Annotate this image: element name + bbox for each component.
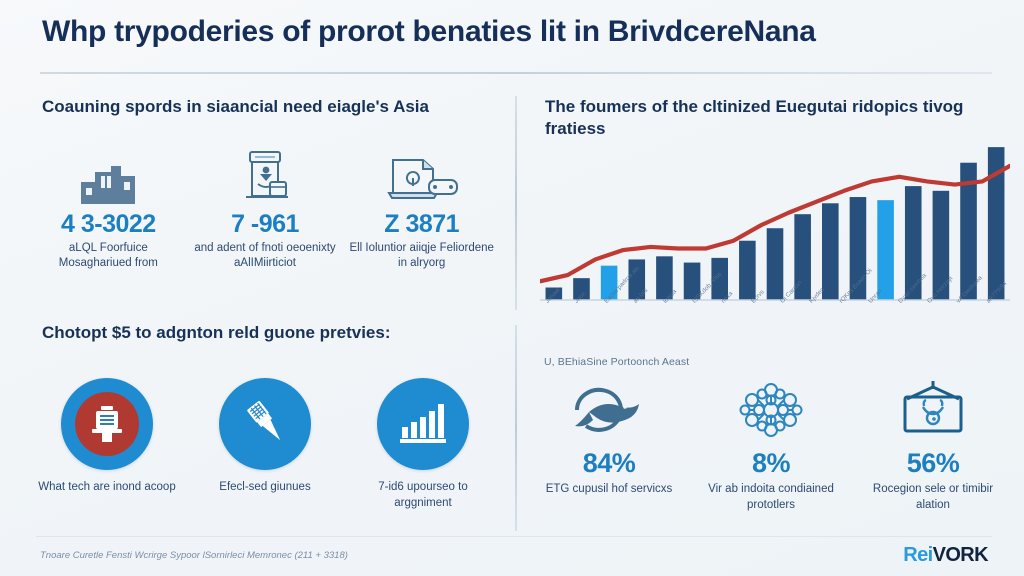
right-top-heading: The foumers of the cltinized Euegutai ri… [545, 96, 975, 140]
percent-caption: Rocegion sele or timibir alation [852, 482, 1014, 513]
stat-caption: and adent of fnoti oeoenixty aAlIMiirtic… [191, 241, 340, 271]
percent-value: 8% [690, 448, 852, 479]
whale-icon [528, 374, 690, 446]
logo-part-2: VORK [933, 544, 988, 566]
infographic-canvas: Whp trypoderies of prorot benaties lit i… [0, 0, 1024, 576]
stat-value: 7 -961 [191, 210, 340, 239]
stat-item: Z 3871 Ell Ioluntior aiiqje Feliordene i… [343, 148, 500, 271]
factory-building-icon [34, 148, 183, 206]
vending-kiosk-icon [191, 148, 340, 206]
stat-caption: Ell Ioluntior aiiqje Feliordene in alryo… [347, 241, 496, 271]
circle-item: What tech are inond acoop [28, 378, 186, 511]
circle-caption: 7-id6 upourseo to arggniment [344, 480, 502, 511]
stat-value: 4 3-3022 [34, 210, 183, 239]
circle-item: 7-id6 upourseo to arggniment [344, 378, 502, 511]
stat-item: 7 -961 and adent of fnoti oeoenixty aAlI… [187, 148, 344, 271]
title-divider [40, 72, 992, 74]
chart-bar [767, 228, 784, 300]
circle-row: What tech are inond acoop [28, 378, 502, 511]
circle-badge [61, 378, 153, 470]
stat-value: Z 3871 [347, 210, 496, 239]
circle-badge [377, 378, 469, 470]
chart-bar [739, 241, 756, 300]
stat-caption: aLQL Foorfuice Mosaghariued from [34, 241, 183, 271]
percent-caption: ETG cupusil hof servicxs [528, 482, 690, 498]
column-divider-bottom [515, 325, 517, 531]
chart-x-axis-labels: JooaalJuoxEactia parlroa aloan lalsloejs… [540, 300, 1010, 346]
left-top-heading: Coauning spords in siaancial need eiagle… [42, 96, 482, 118]
percent-value: 84% [528, 448, 690, 479]
bar-growth-icon [398, 401, 448, 447]
circle-caption: Efecl-sed giunues [186, 480, 344, 496]
chart-canvas [540, 140, 1010, 308]
paint-brush-icon [239, 398, 291, 450]
combo-chart [540, 140, 1010, 308]
percent-row: 84% ETG cupusil hof servicxs [528, 374, 1014, 513]
column-divider-top [515, 96, 517, 310]
circle-item: Efecl-sed giunues [186, 378, 344, 511]
percent-item: 8% Vir ab indoita condiained prototlers [690, 374, 852, 513]
banner-animal-icon [852, 374, 1014, 446]
brand-logo: ReiVORK [903, 545, 988, 565]
circle-inner [75, 392, 139, 456]
percent-item: 84% ETG cupusil hof servicxs [528, 374, 690, 513]
stat-item: 4 3-3022 aLQL Foorfuice Mosaghariued fro… [30, 148, 187, 271]
circle-badge [219, 378, 311, 470]
page-title: Whp trypoderies of prorot benaties lit i… [42, 14, 992, 49]
left-bottom-heading: Chotopt $5 to adgnton reld guone pretvie… [42, 322, 492, 344]
footer-divider [36, 536, 992, 537]
stat-row: 4 3-3022 aLQL Foorfuice Mosaghariued fro… [30, 148, 500, 271]
circle-caption: What tech are inond acoop [28, 480, 186, 496]
percent-caption: Vir ab indoita condiained prototlers [690, 482, 852, 513]
molecule-network-icon [690, 374, 852, 446]
footer-source: Tnoare Curetle Fensti Wcrirge Sypoor lSo… [40, 550, 348, 561]
chart-bars [546, 147, 1005, 300]
chart-bar [877, 200, 894, 300]
laptop-device-icon [347, 148, 496, 206]
document-stack-icon [90, 405, 124, 443]
logo-part-1: Rei [903, 544, 932, 566]
percent-item: 56% Rocegion sele or timibir alation [852, 374, 1014, 513]
percent-value: 56% [852, 448, 1014, 479]
chart-note: U, BEhiaSine Portoonch Aeast [544, 356, 689, 368]
chart-bar [822, 203, 839, 300]
